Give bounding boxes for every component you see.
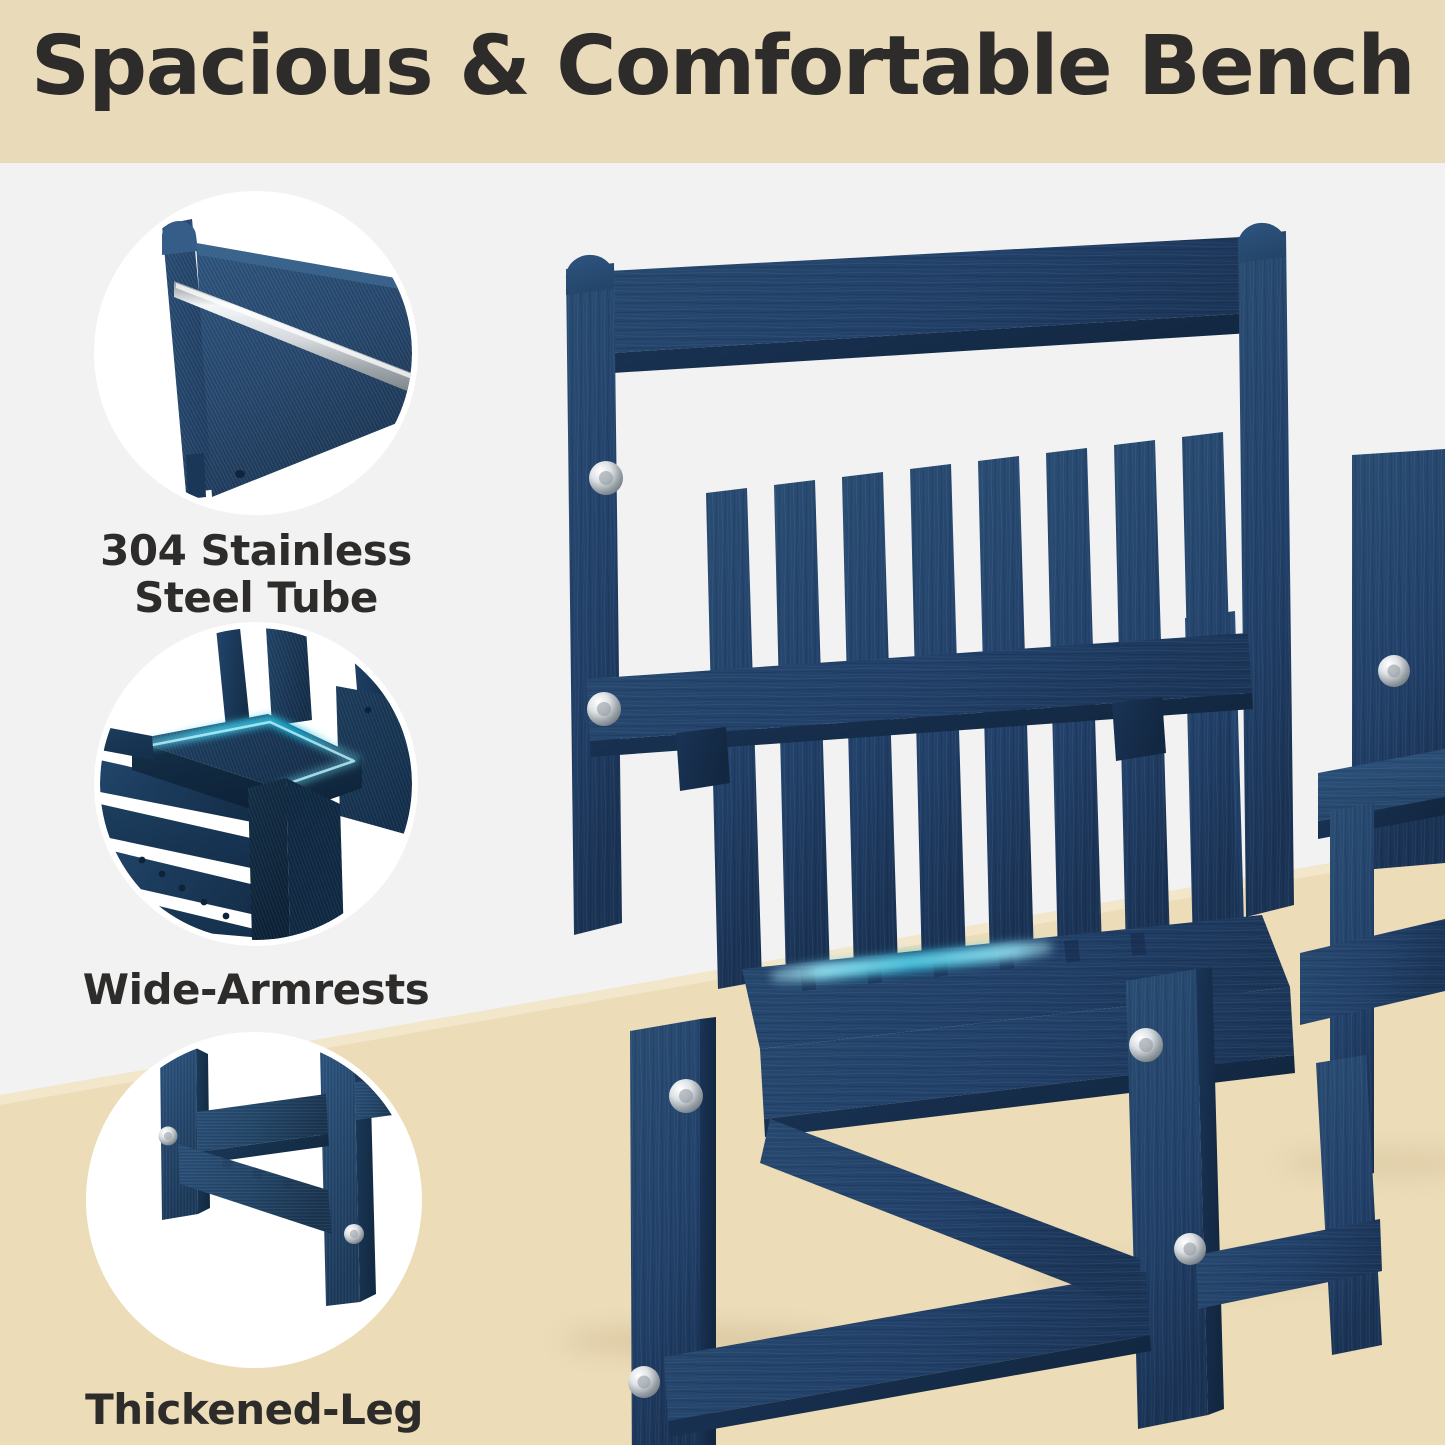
wide-armrest-icon	[100, 628, 412, 940]
callout-caption: Thickened-Leg	[48, 1386, 460, 1433]
callout-caption: Wide-Armrests	[44, 966, 468, 1013]
thickened-leg-icon	[92, 1038, 416, 1362]
stainless-steel-tube-icon	[100, 197, 412, 509]
page-title: Spacious & Comfortable Bench	[0, 26, 1445, 108]
header-band: Spacious & Comfortable Bench	[0, 0, 1445, 163]
callout-caption: 304 Stainless Steel Tube	[52, 527, 460, 621]
infographic-stage: Spacious & Comfortable Bench	[0, 0, 1445, 1445]
